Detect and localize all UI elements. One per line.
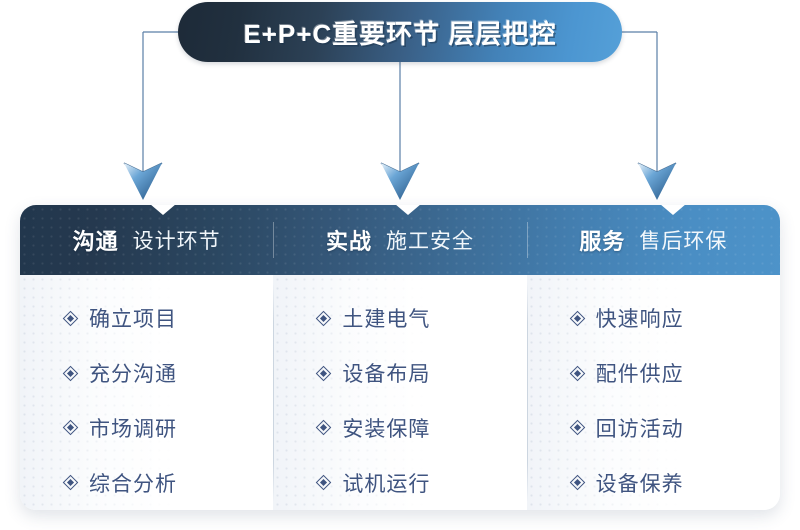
diamond-bullet-icon <box>317 312 330 325</box>
list-item[interactable]: 市场调研 <box>20 406 273 450</box>
diamond-bullet-icon <box>64 421 77 434</box>
list-item[interactable]: 快速响应 <box>527 296 780 340</box>
list-item-label: 回访活动 <box>596 413 684 443</box>
phases-body: 确立项目 充分沟通 市场调研 综合分析 <box>20 275 780 510</box>
column-service: 快速响应 配件供应 回访活动 设备保养 <box>527 275 780 510</box>
main-title-banner: E+P+C重要环节 层层把控 <box>178 2 622 62</box>
header-row: 沟通 设计环节 实战 施工安全 服务 售后环保 <box>20 205 780 275</box>
header-cell-service[interactable]: 服务 售后环保 <box>527 205 780 275</box>
list-item-label: 设备布局 <box>342 358 430 388</box>
diamond-bullet-icon <box>317 476 330 489</box>
column-communication: 确立项目 充分沟通 市场调研 综合分析 <box>20 275 273 510</box>
header-subtitle: 售后环保 <box>639 225 727 255</box>
header-subtitle: 设计环节 <box>133 225 221 255</box>
diamond-bullet-icon <box>64 312 77 325</box>
diamond-bullet-icon <box>64 476 77 489</box>
list-item-label: 快速响应 <box>596 303 684 333</box>
phases-panel: 沟通 设计环节 实战 施工安全 服务 售后环保 <box>20 205 780 510</box>
list-item[interactable]: 试机运行 <box>273 461 526 505</box>
list-item-label: 配件供应 <box>596 358 684 388</box>
list-item-label: 市场调研 <box>89 413 177 443</box>
header-keyword: 服务 <box>579 224 625 256</box>
header-cell-execution[interactable]: 实战 施工安全 <box>273 205 526 275</box>
diamond-bullet-icon <box>317 367 330 380</box>
list-item-label: 综合分析 <box>89 468 177 498</box>
diamond-bullet-icon <box>317 421 330 434</box>
header-subtitle: 施工安全 <box>386 225 474 255</box>
list-item-label: 设备保养 <box>596 468 684 498</box>
header-keyword: 实战 <box>326 224 372 256</box>
list-item[interactable]: 设备布局 <box>273 351 526 395</box>
diamond-bullet-icon <box>571 367 584 380</box>
list-item[interactable]: 确立项目 <box>20 296 273 340</box>
list-item-label: 土建电气 <box>342 303 430 333</box>
infographic-root: E+P+C重要环节 层层把控 沟通 设计环节 实战 施工安全 服务 售后环保 <box>0 0 800 530</box>
header-cell-communication[interactable]: 沟通 设计环节 <box>20 205 273 275</box>
diamond-bullet-icon <box>571 476 584 489</box>
list-item[interactable]: 配件供应 <box>527 351 780 395</box>
list-item-label: 充分沟通 <box>89 358 177 388</box>
diamond-bullet-icon <box>64 367 77 380</box>
phases-header: 沟通 设计环节 实战 施工安全 服务 售后环保 <box>20 205 780 275</box>
main-title-text: E+P+C重要环节 层层把控 <box>178 2 622 62</box>
diamond-bullet-icon <box>571 312 584 325</box>
list-item-label: 确立项目 <box>89 303 177 333</box>
column-execution: 土建电气 设备布局 安装保障 试机运行 <box>273 275 526 510</box>
list-item[interactable]: 土建电气 <box>273 296 526 340</box>
list-item[interactable]: 设备保养 <box>527 461 780 505</box>
header-keyword: 沟通 <box>73 224 119 256</box>
list-item[interactable]: 回访活动 <box>527 406 780 450</box>
list-item-label: 试机运行 <box>342 468 430 498</box>
list-item[interactable]: 充分沟通 <box>20 351 273 395</box>
list-item[interactable]: 安装保障 <box>273 406 526 450</box>
list-item[interactable]: 综合分析 <box>20 461 273 505</box>
diamond-bullet-icon <box>571 421 584 434</box>
list-item-label: 安装保障 <box>342 413 430 443</box>
